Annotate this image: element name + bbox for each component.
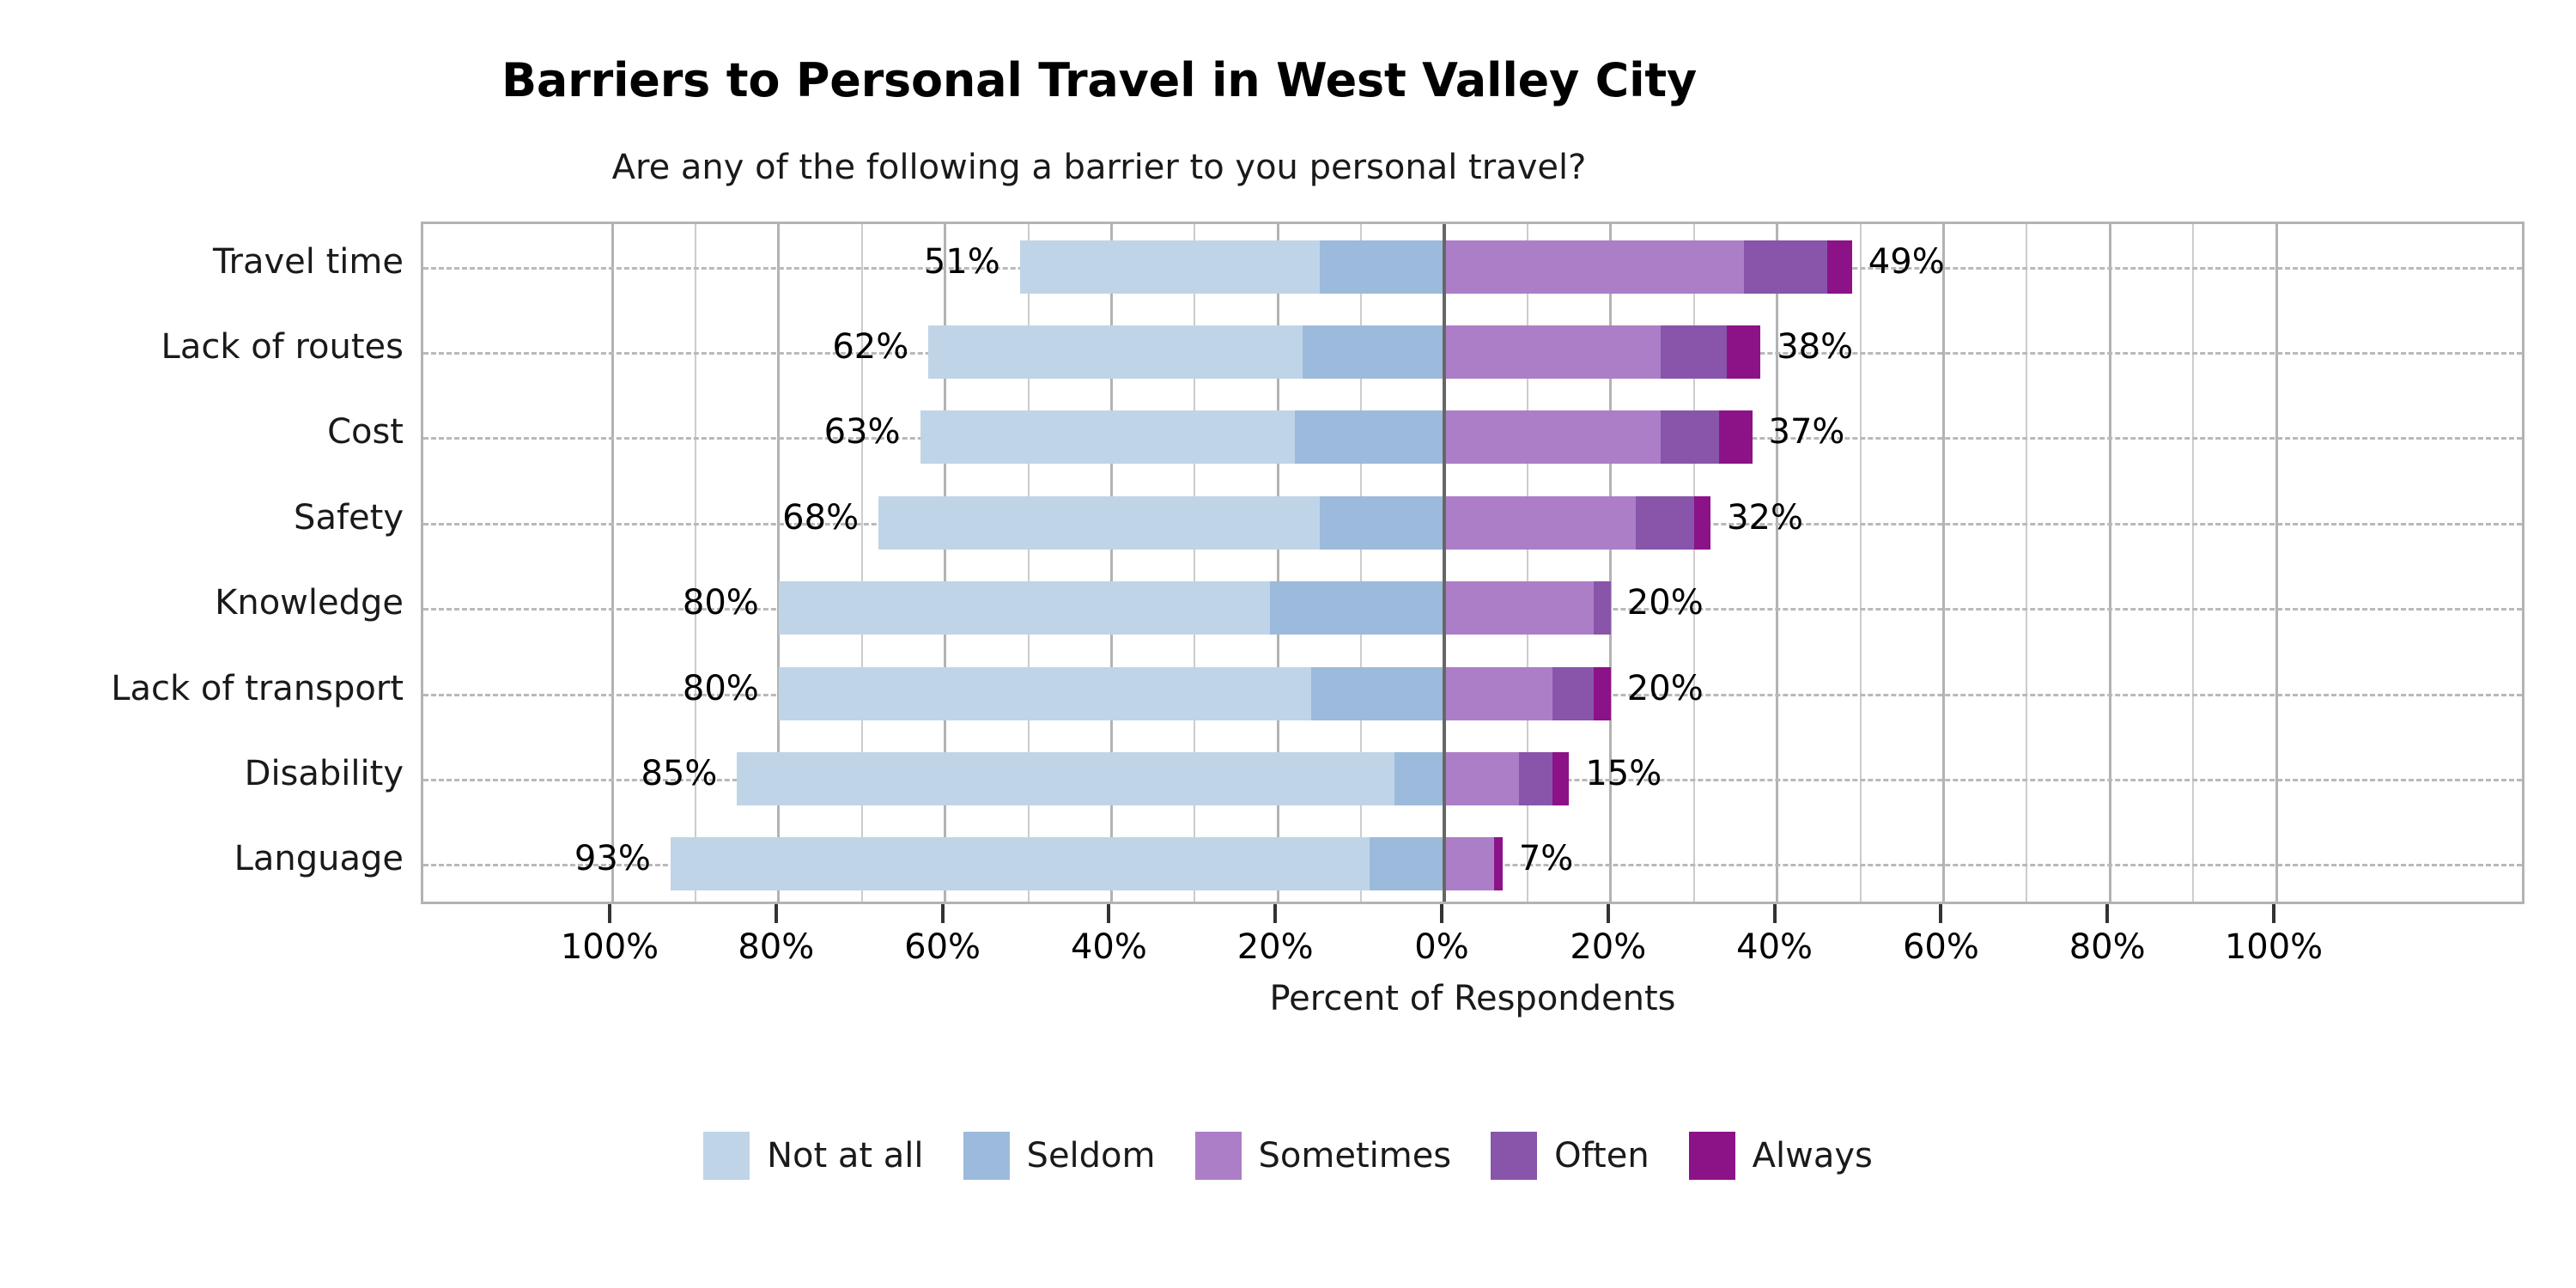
bar-segment[interactable] — [1311, 667, 1444, 720]
bar-segment[interactable] — [1444, 410, 1661, 464]
bar-row[interactable] — [423, 837, 2522, 890]
bar-segment[interactable] — [1594, 667, 1610, 720]
x-axis-tick-label: 100% — [524, 927, 696, 967]
bar-segment[interactable] — [1295, 410, 1444, 464]
bar-segment[interactable] — [1661, 325, 1728, 379]
x-axis-tick-label: 60% — [1855, 927, 2026, 967]
bar-segment[interactable] — [1694, 496, 1710, 550]
bar-segment[interactable] — [920, 410, 1295, 464]
x-axis-tick-label: 20% — [1522, 927, 1694, 967]
x-axis-tick-mark — [1107, 904, 1110, 923]
bar-segment[interactable] — [1552, 752, 1569, 805]
chart-title: Barriers to Personal Travel in West Vall… — [0, 53, 2198, 107]
legend-item[interactable]: Always — [1689, 1132, 1873, 1180]
bar-segment[interactable] — [1744, 240, 1827, 294]
bar-value-label-positive: 20% — [1627, 583, 1833, 623]
bar-segment[interactable] — [1827, 240, 1852, 294]
x-axis-tick-label: 80% — [690, 927, 862, 967]
y-axis-category-label: Knowledge — [0, 583, 404, 623]
bar-value-label-positive: 20% — [1627, 669, 1833, 708]
y-axis-category-label: Lack of routes — [0, 327, 404, 367]
x-axis-tick-label: 40% — [1689, 927, 1861, 967]
x-axis-tick-label: 80% — [2021, 927, 2193, 967]
x-axis-tick-mark — [1773, 904, 1777, 923]
legend-label: Seldom — [1027, 1136, 1156, 1176]
bar-value-label-negative: 51% — [794, 242, 1000, 282]
bar-segment[interactable] — [1020, 240, 1320, 294]
bar-segment[interactable] — [1636, 496, 1694, 550]
legend-item[interactable]: Often — [1491, 1132, 1649, 1180]
bar-segment[interactable] — [779, 581, 1270, 635]
x-axis-tick-label: 0% — [1356, 927, 1528, 967]
bar-value-label-negative: 80% — [553, 669, 759, 708]
bar-segment[interactable] — [1594, 581, 1610, 635]
bar-value-label-positive: 15% — [1585, 754, 1791, 793]
bar-value-label-negative: 63% — [695, 412, 901, 452]
x-axis-tick-mark — [1440, 904, 1443, 923]
bar-value-label-negative: 93% — [445, 839, 651, 878]
bar-segment[interactable] — [1370, 837, 1444, 890]
bar-segment[interactable] — [928, 325, 1303, 379]
zero-axis-line — [1443, 224, 1446, 902]
bar-segment[interactable] — [1444, 837, 1494, 890]
bar-segment[interactable] — [1444, 667, 1552, 720]
x-axis-tick-mark — [941, 904, 945, 923]
y-axis-category-label: Lack of transport — [0, 669, 404, 708]
bar-segment[interactable] — [1270, 581, 1444, 635]
x-axis-tick-mark — [2105, 904, 2109, 923]
bar-value-label-positive: 37% — [1769, 412, 1975, 452]
chart-legend: Not at allSeldomSometimesOftenAlways — [0, 1132, 2576, 1180]
x-axis-tick-mark — [1273, 904, 1277, 923]
legend-item[interactable]: Sometimes — [1195, 1132, 1452, 1180]
bar-segment[interactable] — [1394, 752, 1444, 805]
plot-area — [421, 222, 2524, 904]
legend-label: Always — [1753, 1136, 1873, 1176]
bar-row[interactable] — [423, 752, 2522, 805]
x-axis-tick-mark — [1607, 904, 1610, 923]
legend-color-swatch — [1195, 1132, 1242, 1180]
bar-segment[interactable] — [671, 837, 1370, 890]
y-axis-category-label: Disability — [0, 754, 404, 793]
legend-color-swatch — [963, 1132, 1010, 1180]
bar-segment[interactable] — [1444, 240, 1744, 294]
y-axis-category-label: Travel time — [0, 242, 404, 282]
x-axis-tick-mark — [2272, 904, 2275, 923]
bar-segment[interactable] — [1320, 496, 1444, 550]
bar-segment[interactable] — [779, 667, 1311, 720]
legend-label: Often — [1554, 1136, 1649, 1176]
y-axis-category-label: Cost — [0, 412, 404, 452]
legend-color-swatch — [1689, 1132, 1735, 1180]
x-axis-tick-mark — [1939, 904, 1942, 923]
bar-value-label-negative: 80% — [553, 583, 759, 623]
x-axis-tick-label: 40% — [1023, 927, 1194, 967]
bar-value-label-negative: 68% — [653, 498, 859, 538]
legend-color-swatch — [1491, 1132, 1537, 1180]
bar-segment[interactable] — [1444, 325, 1661, 379]
legend-label: Not at all — [767, 1136, 923, 1176]
x-axis-tick-mark — [608, 904, 611, 923]
x-axis-tick-label: 20% — [1189, 927, 1361, 967]
bar-segment[interactable] — [1519, 752, 1552, 805]
legend-label: Sometimes — [1259, 1136, 1452, 1176]
chart-subtitle: Are any of the following a barrier to yo… — [0, 148, 2198, 187]
y-axis-category-label: Language — [0, 839, 404, 878]
bar-segment[interactable] — [737, 752, 1394, 805]
bar-segment[interactable] — [1552, 667, 1594, 720]
x-axis-tick-label: 100% — [2188, 927, 2360, 967]
bar-segment[interactable] — [1444, 581, 1594, 635]
x-axis-title: Percent of Respondents — [421, 979, 2524, 1018]
bar-segment[interactable] — [1444, 496, 1636, 550]
y-axis-category-label: Safety — [0, 498, 404, 538]
bar-value-label-positive: 7% — [1519, 839, 1725, 878]
bar-segment[interactable] — [1727, 325, 1760, 379]
bar-value-label-positive: 32% — [1727, 498, 1933, 538]
bar-segment[interactable] — [1494, 837, 1503, 890]
x-axis-tick-mark — [775, 904, 778, 923]
bar-row[interactable] — [423, 240, 2522, 294]
chart-container: Barriers to Personal Travel in West Vall… — [0, 0, 2576, 1288]
legend-item[interactable]: Seldom — [963, 1132, 1156, 1180]
legend-color-swatch — [703, 1132, 750, 1180]
bar-segment[interactable] — [1320, 240, 1444, 294]
bar-value-label-positive: 49% — [1868, 242, 2075, 282]
bar-segment[interactable] — [1444, 752, 1519, 805]
bar-value-label-positive: 38% — [1777, 327, 1983, 367]
bar-value-label-negative: 62% — [702, 327, 908, 367]
bar-value-label-negative: 85% — [511, 754, 717, 793]
legend-item[interactable]: Not at all — [703, 1132, 923, 1180]
bar-segment[interactable] — [1303, 325, 1444, 379]
bar-segment[interactable] — [1661, 410, 1719, 464]
bar-segment[interactable] — [1719, 410, 1753, 464]
bar-segment[interactable] — [878, 496, 1320, 550]
x-axis-tick-label: 60% — [857, 927, 1029, 967]
